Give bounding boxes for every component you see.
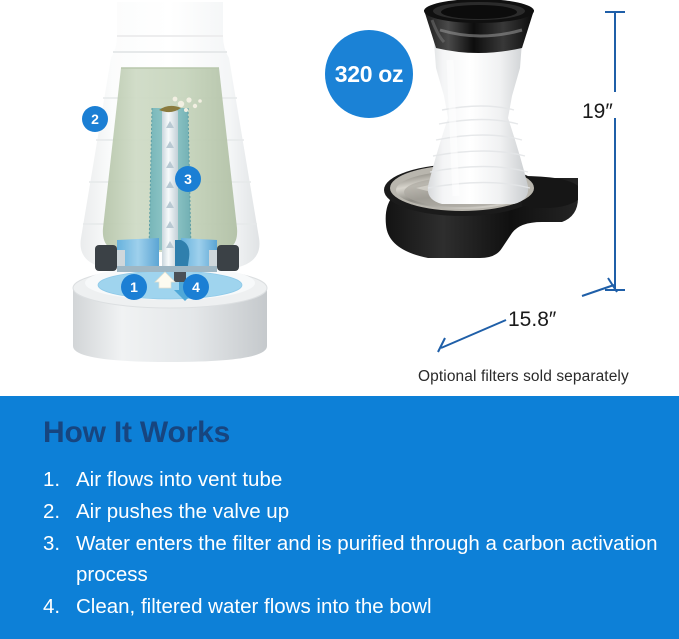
how-step-3-text: Water enters the filter and is purified … — [76, 532, 658, 586]
how-step-4: 4. Clean, filtered water flows into the … — [43, 591, 679, 622]
how-it-works-panel: How It Works 1. Air flows into vent tube… — [0, 396, 679, 639]
cutaway-illustration — [55, 0, 285, 380]
how-step-3-number: 3. — [43, 528, 69, 559]
how-step-4-text: Clean, filtered water flows into the bow… — [76, 595, 432, 618]
callout-4[interactable]: 4 — [183, 274, 209, 300]
how-step-2-number: 2. — [43, 496, 69, 527]
dim-width-cap-left — [438, 338, 445, 352]
callout-3[interactable]: 3 — [175, 166, 201, 192]
product-photo — [370, 0, 600, 330]
how-step-1-text: Air flows into vent tube — [76, 468, 282, 491]
how-step-3: 3. Water enters the filter and is purifi… — [43, 528, 679, 590]
how-step-4-number: 4. — [43, 591, 69, 622]
product-photo-illustration — [370, 0, 600, 330]
product-infographic: 1 2 3 4 320 oz — [0, 0, 679, 639]
top-illustration-area: 1 2 3 4 320 oz — [0, 0, 679, 396]
callout-2[interactable]: 2 — [82, 106, 108, 132]
product-caption: Optional filters sold separately — [418, 368, 629, 386]
cutaway-diagram: 1 2 3 4 — [55, 0, 285, 380]
how-step-2: 2. Air pushes the valve up — [43, 496, 679, 527]
how-it-works-list: 1. Air flows into vent tube 2. Air pushe… — [43, 464, 679, 622]
callout-1[interactable]: 1 — [121, 274, 147, 300]
how-step-1-number: 1. — [43, 464, 69, 495]
product-cap — [424, 0, 534, 53]
how-step-1: 1. Air flows into vent tube — [43, 464, 679, 495]
product-bottle — [428, 42, 530, 204]
how-step-2-text: Air pushes the valve up — [76, 500, 289, 523]
how-it-works-title: How It Works — [43, 416, 679, 450]
dim-width-cap-right — [608, 278, 617, 292]
